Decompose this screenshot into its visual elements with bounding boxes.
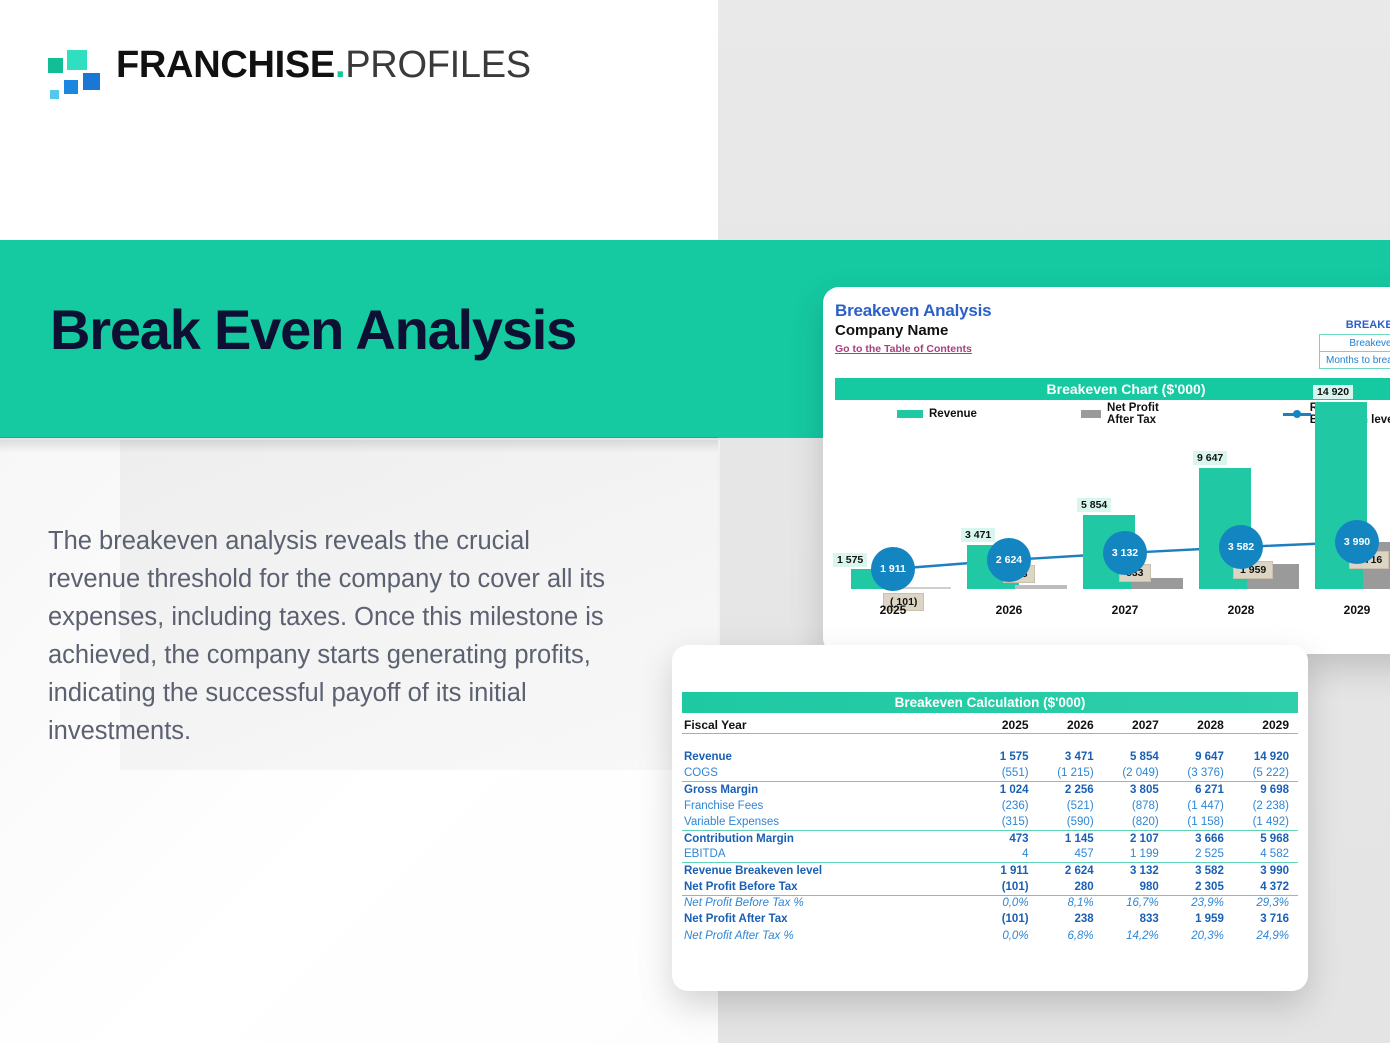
row-value: (2 049) (1103, 766, 1168, 782)
x-tick-2025: 2025 (835, 603, 951, 617)
table-row: EBITDA 4 457 1 199 2 525 4 582 (682, 847, 1298, 863)
bar-npat[interactable] (1015, 585, 1067, 589)
table-row: Gross Margin 1 024 2 256 3 805 6 271 9 6… (682, 782, 1298, 798)
table-header-2025: 2025 (972, 717, 1037, 733)
x-tick-2028: 2028 (1183, 603, 1299, 617)
spreadsheet-header: Breakeven Analysis Company Name Go to th… (835, 301, 1390, 373)
logo-word-franchise: FRANCHISE (116, 44, 335, 86)
x-tick-2026: 2026 (951, 603, 1067, 617)
company-name: Company Name (835, 322, 1390, 339)
table-row: Revenue Breakeven level 1 911 2 624 3 13… (682, 863, 1298, 879)
row-value: 238 (1038, 911, 1103, 927)
row-value: 2 624 (1038, 863, 1103, 879)
row-value: 4 582 (1233, 847, 1298, 863)
bar-label-revenue: 9 647 (1193, 451, 1227, 465)
row-label: Net Profit Before Tax % (682, 895, 972, 911)
row-value: (236) (972, 798, 1037, 814)
row-label: Gross Margin (682, 782, 972, 798)
row-value: 24,9% (1233, 927, 1298, 943)
kpi-row: Breakeven date Aug-25 (1320, 335, 1390, 352)
legend-item-npat[interactable]: Net Profit After Tax (1081, 402, 1187, 426)
row-label: Variable Expenses (682, 814, 972, 830)
row-value: (878) (1103, 798, 1168, 814)
legend-item-revenue[interactable]: Revenue (897, 408, 977, 420)
row-value: 980 (1103, 879, 1168, 895)
chart-band-title: Breakeven Chart ($'000) (835, 378, 1390, 400)
row-value: 473 (972, 830, 1037, 846)
x-tick-2027: 2027 (1067, 603, 1183, 617)
x-tick-2029: 2029 (1299, 603, 1390, 617)
table-row: Revenue 1 575 3 471 5 854 9 647 14 920 (682, 749, 1298, 765)
row-value: (820) (1103, 814, 1168, 830)
row-value: 29,3% (1233, 895, 1298, 911)
row-value: 3 716 (1233, 911, 1298, 927)
logo-mark-icon (46, 48, 108, 102)
row-label: Revenue Breakeven level (682, 863, 972, 879)
banner-shadow (0, 437, 718, 453)
row-value: 2 305 (1168, 879, 1233, 895)
row-value: 833 (1103, 911, 1168, 927)
lead-paragraph: The breakeven analysis reveals the cruci… (48, 522, 618, 750)
table-header-row: Fiscal Year 2025 2026 2027 2028 2029 (682, 717, 1298, 733)
sheet-title: Breakeven Analysis (835, 301, 1390, 321)
table-row: Franchise Fees (236) (521) (878) (1 447)… (682, 798, 1298, 814)
row-value: (315) (972, 814, 1037, 830)
legend-swatch-icon (1081, 410, 1101, 418)
table-row: Net Profit Before Tax % 0,0% 8,1% 16,7% … (682, 895, 1298, 911)
breakeven-chart-card: Breakeven Analysis Company Name Go to th… (823, 287, 1390, 654)
bar-label-revenue: 5 854 (1077, 498, 1111, 512)
row-value: 6,8% (1038, 927, 1103, 943)
row-value: (101) (972, 911, 1037, 927)
row-value: (1 447) (1168, 798, 1233, 814)
table-of-contents-link[interactable]: Go to the Table of Contents (835, 343, 972, 355)
bar-npat[interactable] (899, 587, 951, 589)
legend-swatch-icon (897, 410, 923, 418)
table-row: Net Profit Before Tax (101) 280 980 2 30… (682, 879, 1298, 895)
row-value: (1 158) (1168, 814, 1233, 830)
row-value: 1 959 (1168, 911, 1233, 927)
row-value: 3 990 (1233, 863, 1298, 879)
row-value: (1 492) (1233, 814, 1298, 830)
row-value: 5 968 (1233, 830, 1298, 846)
row-value: 20,3% (1168, 927, 1233, 943)
table-row (682, 733, 1298, 749)
row-value: 16,7% (1103, 895, 1168, 911)
breakeven-point-2026[interactable]: 2 624 (987, 538, 1031, 582)
breakeven-point-2025[interactable]: 1 911 (871, 547, 915, 591)
table-header-2029: 2029 (1233, 717, 1298, 733)
row-value: (3 376) (1168, 766, 1233, 782)
row-value: 3 471 (1038, 749, 1103, 765)
table-row: Net Profit After Tax (101) 238 833 1 959… (682, 911, 1298, 927)
row-value: 1 575 (972, 749, 1037, 765)
row-value: 5 854 (1103, 749, 1168, 765)
bar-label-revenue: 14 920 (1313, 385, 1353, 399)
logo-wordmark: FRANCHISE.PROFILES (116, 44, 531, 87)
table-header-label: Fiscal Year (682, 717, 972, 733)
kpi-breakeven-period: BREAKEVEN PERIOD Breakeven date Aug-25 M… (1319, 319, 1390, 369)
legend-label: Net Profit After Tax (1107, 402, 1187, 426)
chart-legend: Revenue Net Profit After Tax Revenue Bre… (835, 405, 1390, 423)
row-value: 9 647 (1168, 749, 1233, 765)
row-value: (2 238) (1233, 798, 1298, 814)
logo-word-profiles: PROFILES (345, 44, 531, 86)
row-value: 1 911 (972, 863, 1037, 879)
table-band-title: Breakeven Calculation ($'000) (682, 692, 1298, 713)
breakeven-calculation-table: Fiscal Year 2025 2026 2027 2028 2029 Rev… (682, 717, 1298, 944)
kpi-heading: BREAKEVEN PERIOD (1319, 319, 1390, 331)
row-value: 2 107 (1103, 830, 1168, 846)
brand-logo: FRANCHISE.PROFILES (46, 44, 546, 106)
row-value: 2 256 (1038, 782, 1103, 798)
table-row: Contribution Margin 473 1 145 2 107 3 66… (682, 830, 1298, 846)
row-value: 6 271 (1168, 782, 1233, 798)
breakeven-calculation-card: Breakeven Calculation ($'000) Fiscal Yea… (672, 645, 1308, 991)
logo-dot: . (335, 44, 345, 86)
row-value: 3 805 (1103, 782, 1168, 798)
row-label: Net Profit Before Tax (682, 879, 972, 895)
page-title: Break Even Analysis (50, 297, 576, 362)
row-value: 0,0% (972, 927, 1037, 943)
row-label: Contribution Margin (682, 830, 972, 846)
row-value: 3 132 (1103, 863, 1168, 879)
table-header-2027: 2027 (1103, 717, 1168, 733)
row-value: 3 582 (1168, 863, 1233, 879)
row-label: Net Profit After Tax (682, 911, 972, 927)
row-value: 4 (972, 847, 1037, 863)
row-value: 14 920 (1233, 749, 1298, 765)
row-label: Franchise Fees (682, 798, 972, 814)
row-value: 9 698 (1233, 782, 1298, 798)
table-row: Net Profit After Tax % 0,0% 6,8% 14,2% 2… (682, 927, 1298, 943)
row-value: 23,9% (1168, 895, 1233, 911)
row-value: (551) (972, 766, 1037, 782)
row-label: Net Profit After Tax % (682, 927, 972, 943)
kpi-row: Months to breakeven 8 (1320, 352, 1390, 369)
breakeven-point-2028[interactable]: 3 582 (1219, 525, 1263, 569)
row-value: 0,0% (972, 895, 1037, 911)
kpi-label: Breakeven date (1320, 335, 1390, 352)
row-label: EBITDA (682, 847, 972, 863)
row-value: 1 024 (972, 782, 1037, 798)
row-value: 1 199 (1103, 847, 1168, 863)
kpi-label: Months to breakeven (1320, 352, 1390, 369)
row-value: 280 (1038, 879, 1103, 895)
row-value: (5 222) (1233, 766, 1298, 782)
bar-label-revenue: 3 471 (961, 528, 995, 542)
table-header-2026: 2026 (1038, 717, 1103, 733)
row-label: COGS (682, 766, 972, 782)
table-row: COGS (551) (1 215) (2 049) (3 376) (5 22… (682, 766, 1298, 782)
table-header-2028: 2028 (1168, 717, 1233, 733)
row-value: (101) (972, 879, 1037, 895)
legend-line-marker-icon (1283, 409, 1305, 419)
row-value: (521) (1038, 798, 1103, 814)
chart-plot-area: 1 575 ( 101) 3 471 238 5 854 833 9 647 1… (835, 429, 1390, 619)
row-value: 4 372 (1233, 879, 1298, 895)
breakeven-point-2027[interactable]: 3 132 (1103, 531, 1147, 575)
kpi-table: Breakeven date Aug-25 Months to breakeve… (1319, 334, 1390, 369)
row-label: Revenue (682, 749, 972, 765)
table-row: Variable Expenses (315) (590) (820) (1 1… (682, 814, 1298, 830)
row-value: 1 145 (1038, 830, 1103, 846)
row-value: 14,2% (1103, 927, 1168, 943)
row-value: (1 215) (1038, 766, 1103, 782)
row-value: 3 666 (1168, 830, 1233, 846)
row-value: 457 (1038, 847, 1103, 863)
breakeven-point-2029[interactable]: 3 990 (1335, 520, 1379, 564)
legend-label: Revenue (929, 408, 977, 420)
bar-label-revenue: 1 575 (833, 553, 867, 567)
row-value: 8,1% (1038, 895, 1103, 911)
row-value: (590) (1038, 814, 1103, 830)
row-value: 2 525 (1168, 847, 1233, 863)
